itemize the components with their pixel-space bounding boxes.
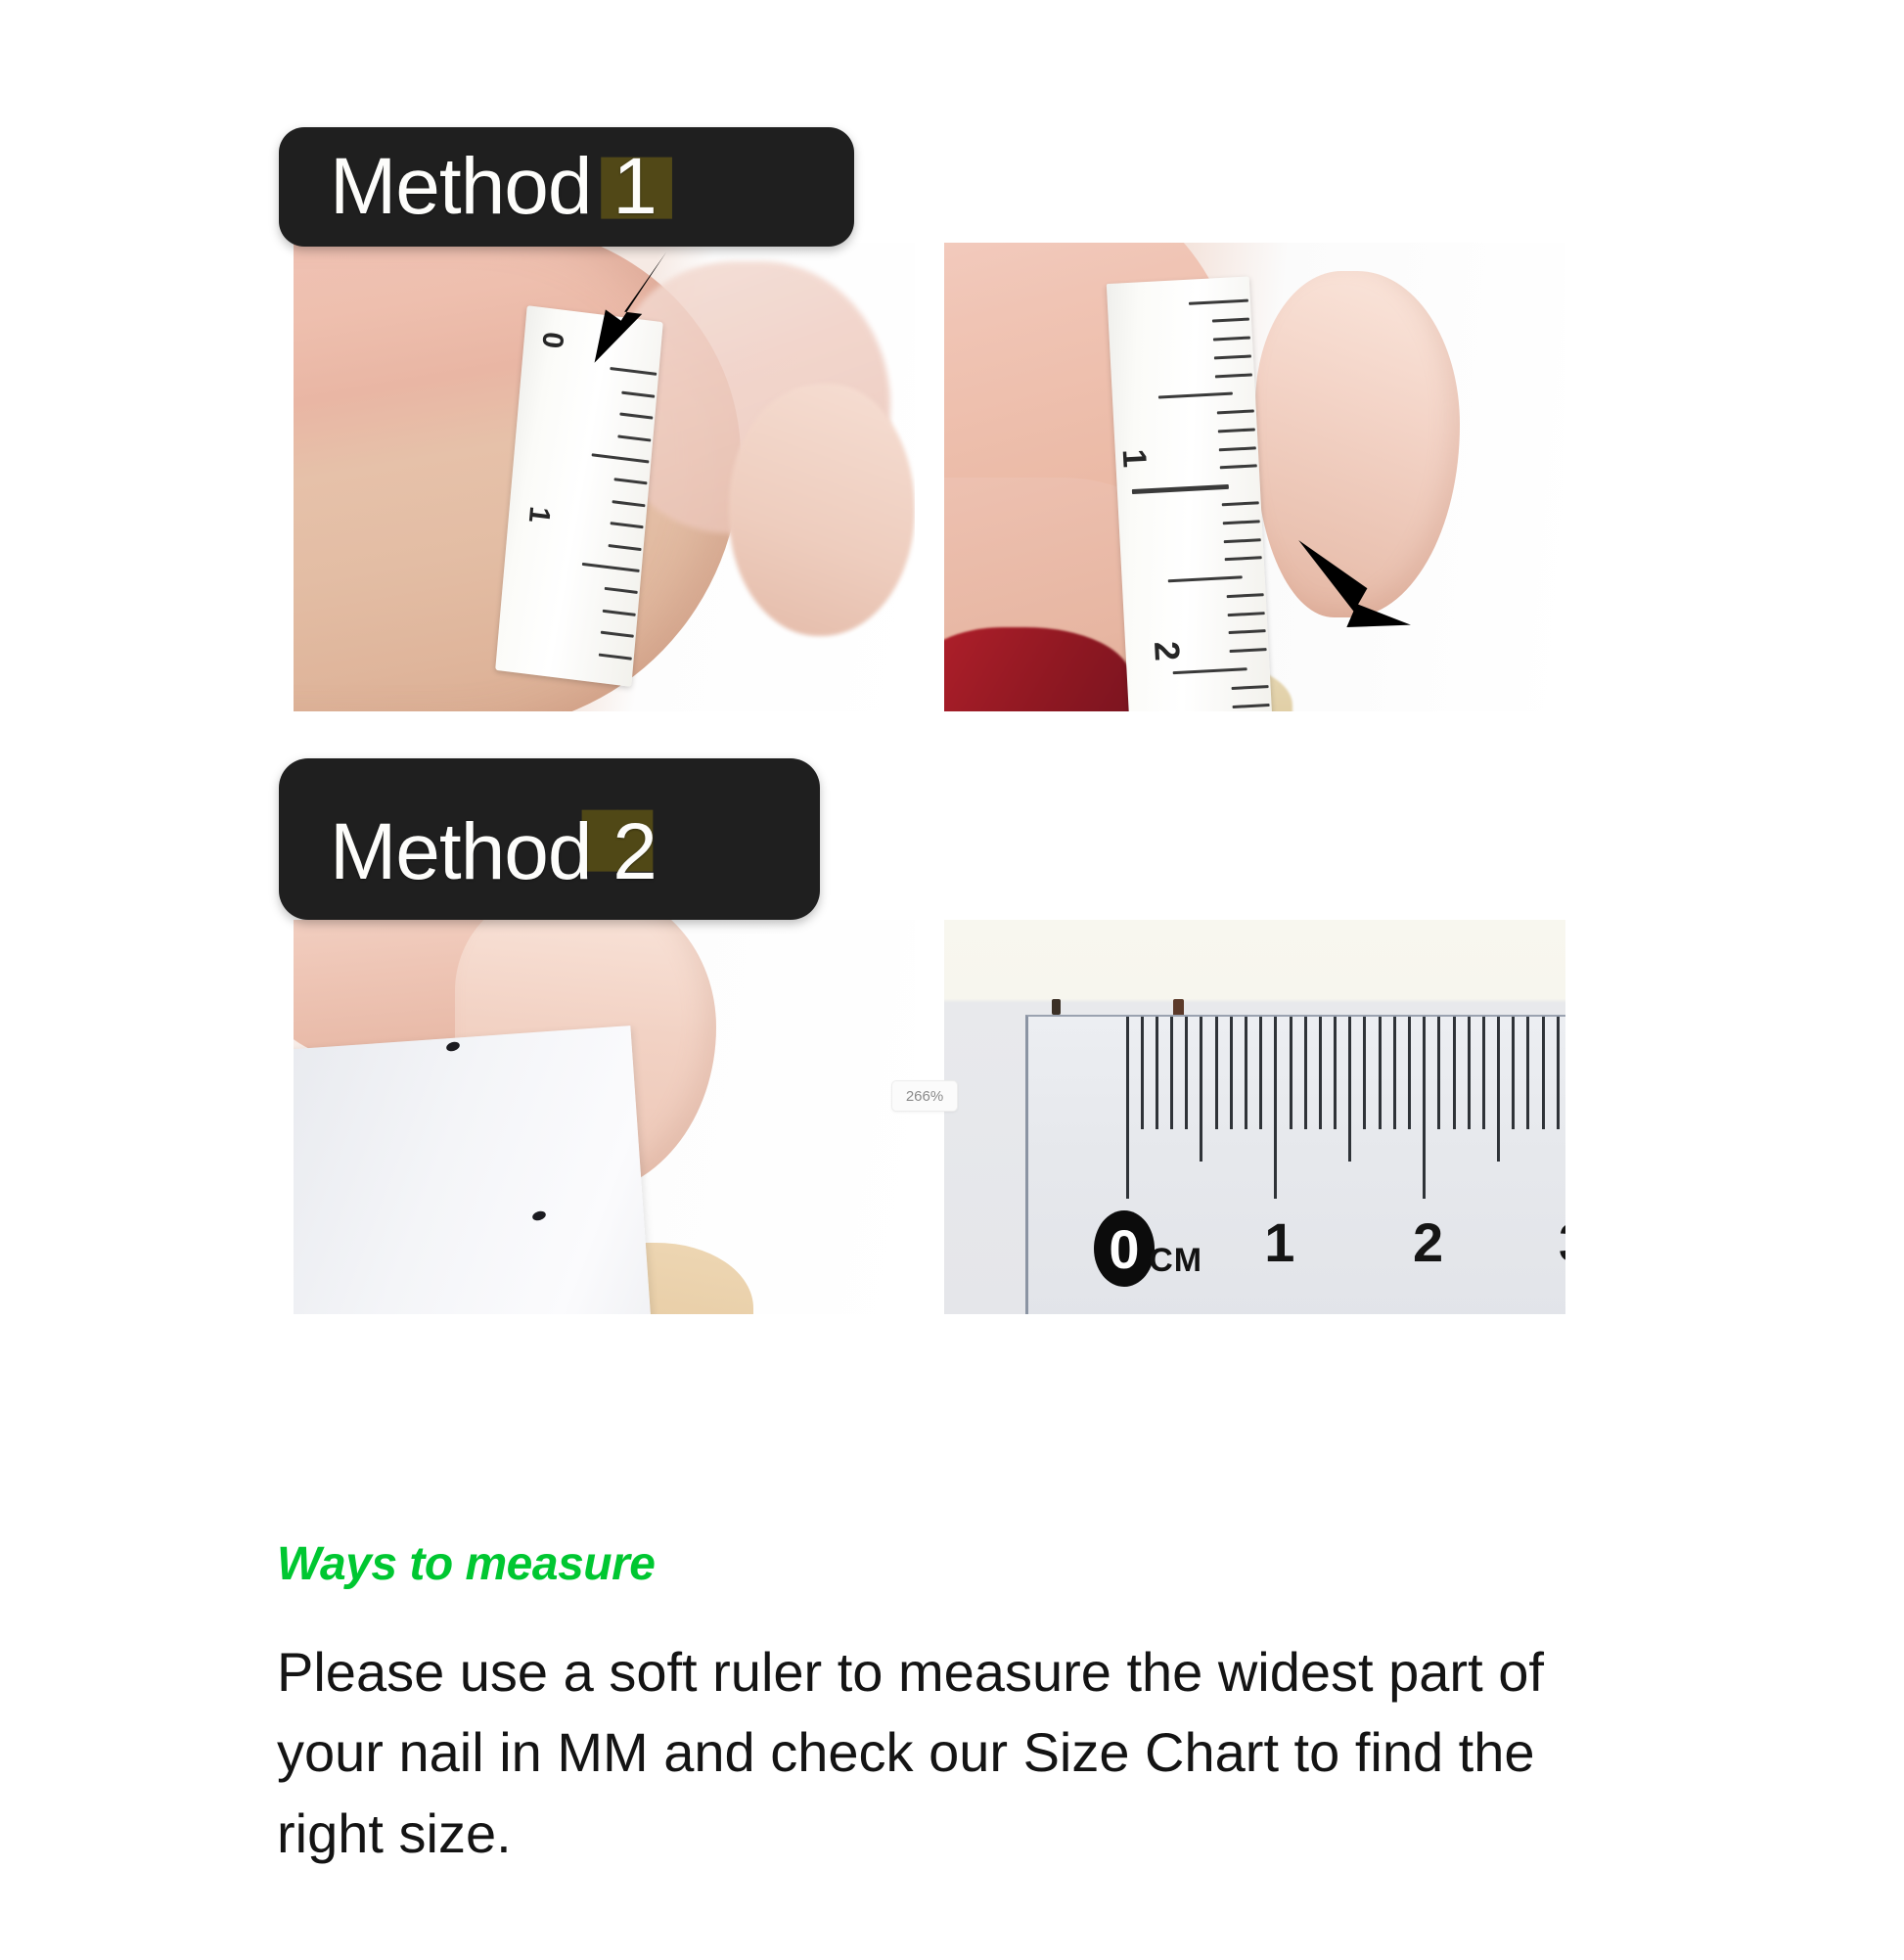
tape-tick-marks [1107, 277, 1273, 711]
photo-paper-strip-marks [294, 920, 915, 1314]
photo-ruler-centimeters: 0 CM 1 2 3 [944, 920, 1565, 1314]
pointer-arrow-icon [1274, 533, 1435, 636]
ruler-tick-marks [1028, 1017, 1565, 1199]
ruler-number-3: 3 [1559, 1210, 1565, 1274]
tape-number-1: 1 [1113, 448, 1153, 469]
photo-tape-around-fingertip: 0 1 [294, 243, 915, 711]
ruler-zero-marker: 0 [1094, 1210, 1155, 1287]
ruler-body: 0 CM 1 2 3 [1025, 1015, 1565, 1314]
photo-tape-read-measurement: 1 2 [944, 243, 1565, 711]
measure-instructions: Ways to measure Please use a soft ruler … [277, 1537, 1647, 1874]
ways-to-measure-heading: Ways to measure [277, 1537, 1647, 1591]
measuring-guide-page: ██ Method 1 0 [0, 0, 1904, 1960]
paper-strip [294, 1026, 652, 1314]
method-2-label: Method 2 [279, 781, 657, 898]
measuring-tape: 1 2 [1107, 277, 1273, 711]
pointer-arrow-icon [542, 248, 691, 370]
method-1-label: Method 1 [279, 141, 657, 233]
ruler-unit-label: CM [1149, 1242, 1202, 1280]
ruler-top-marker-1 [1052, 999, 1061, 1015]
tape-number-2: 2 [1146, 640, 1188, 661]
ruler-number-1: 1 [1264, 1210, 1294, 1274]
fingertip-shape [729, 384, 916, 637]
method-1-badge: ██ Method 1 [279, 127, 854, 247]
method-2-badge: ██ Method 2 [279, 758, 820, 920]
measure-instructions-text: Please use a soft ruler to measure the w… [277, 1632, 1642, 1874]
ruler-number-2: 2 [1413, 1210, 1443, 1274]
zoom-level-indicator[interactable]: 266% [891, 1080, 958, 1112]
